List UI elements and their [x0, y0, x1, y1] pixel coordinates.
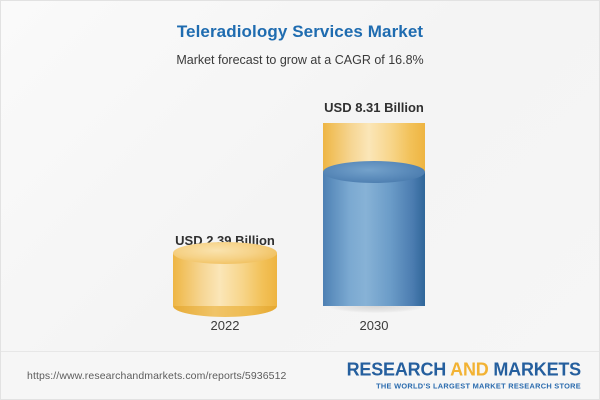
market-infographic-card: Teleradiology Services Market Market for…	[0, 0, 600, 400]
axis-label-2022: 2022	[211, 318, 240, 333]
cylinder-segment-growth-2030	[323, 172, 425, 306]
value-label-2030: USD 8.31 Billion	[324, 100, 424, 115]
cylinder-top-cap	[173, 242, 277, 264]
logo-word-markets: MARKETS	[493, 359, 581, 379]
logo-tagline: THE WORLD'S LARGEST MARKET RESEARCH STOR…	[347, 379, 581, 391]
logo-word-research: RESEARCH	[347, 359, 446, 379]
chart-plot-area: USD 2.39 Billion 2022 USD 8.31 Billion	[1, 1, 600, 353]
research-and-markets-logo[interactable]: RESEARCH AND MARKETS THE WORLD'S LARGEST…	[347, 360, 581, 391]
cylinder-2022	[173, 253, 277, 306]
logo-word-and: AND	[446, 359, 493, 379]
cylinder-2030	[323, 123, 425, 306]
axis-label-2030: 2030	[360, 318, 389, 333]
cylinder-segment-base-2022	[173, 253, 277, 306]
cylinder-top-cap	[323, 161, 425, 183]
cylinder-body	[323, 172, 425, 306]
report-url[interactable]: https://www.researchandmarkets.com/repor…	[27, 370, 286, 382]
footer-bar: https://www.researchandmarkets.com/repor…	[1, 351, 599, 399]
logo-wordmark: RESEARCH AND MARKETS	[347, 360, 581, 379]
